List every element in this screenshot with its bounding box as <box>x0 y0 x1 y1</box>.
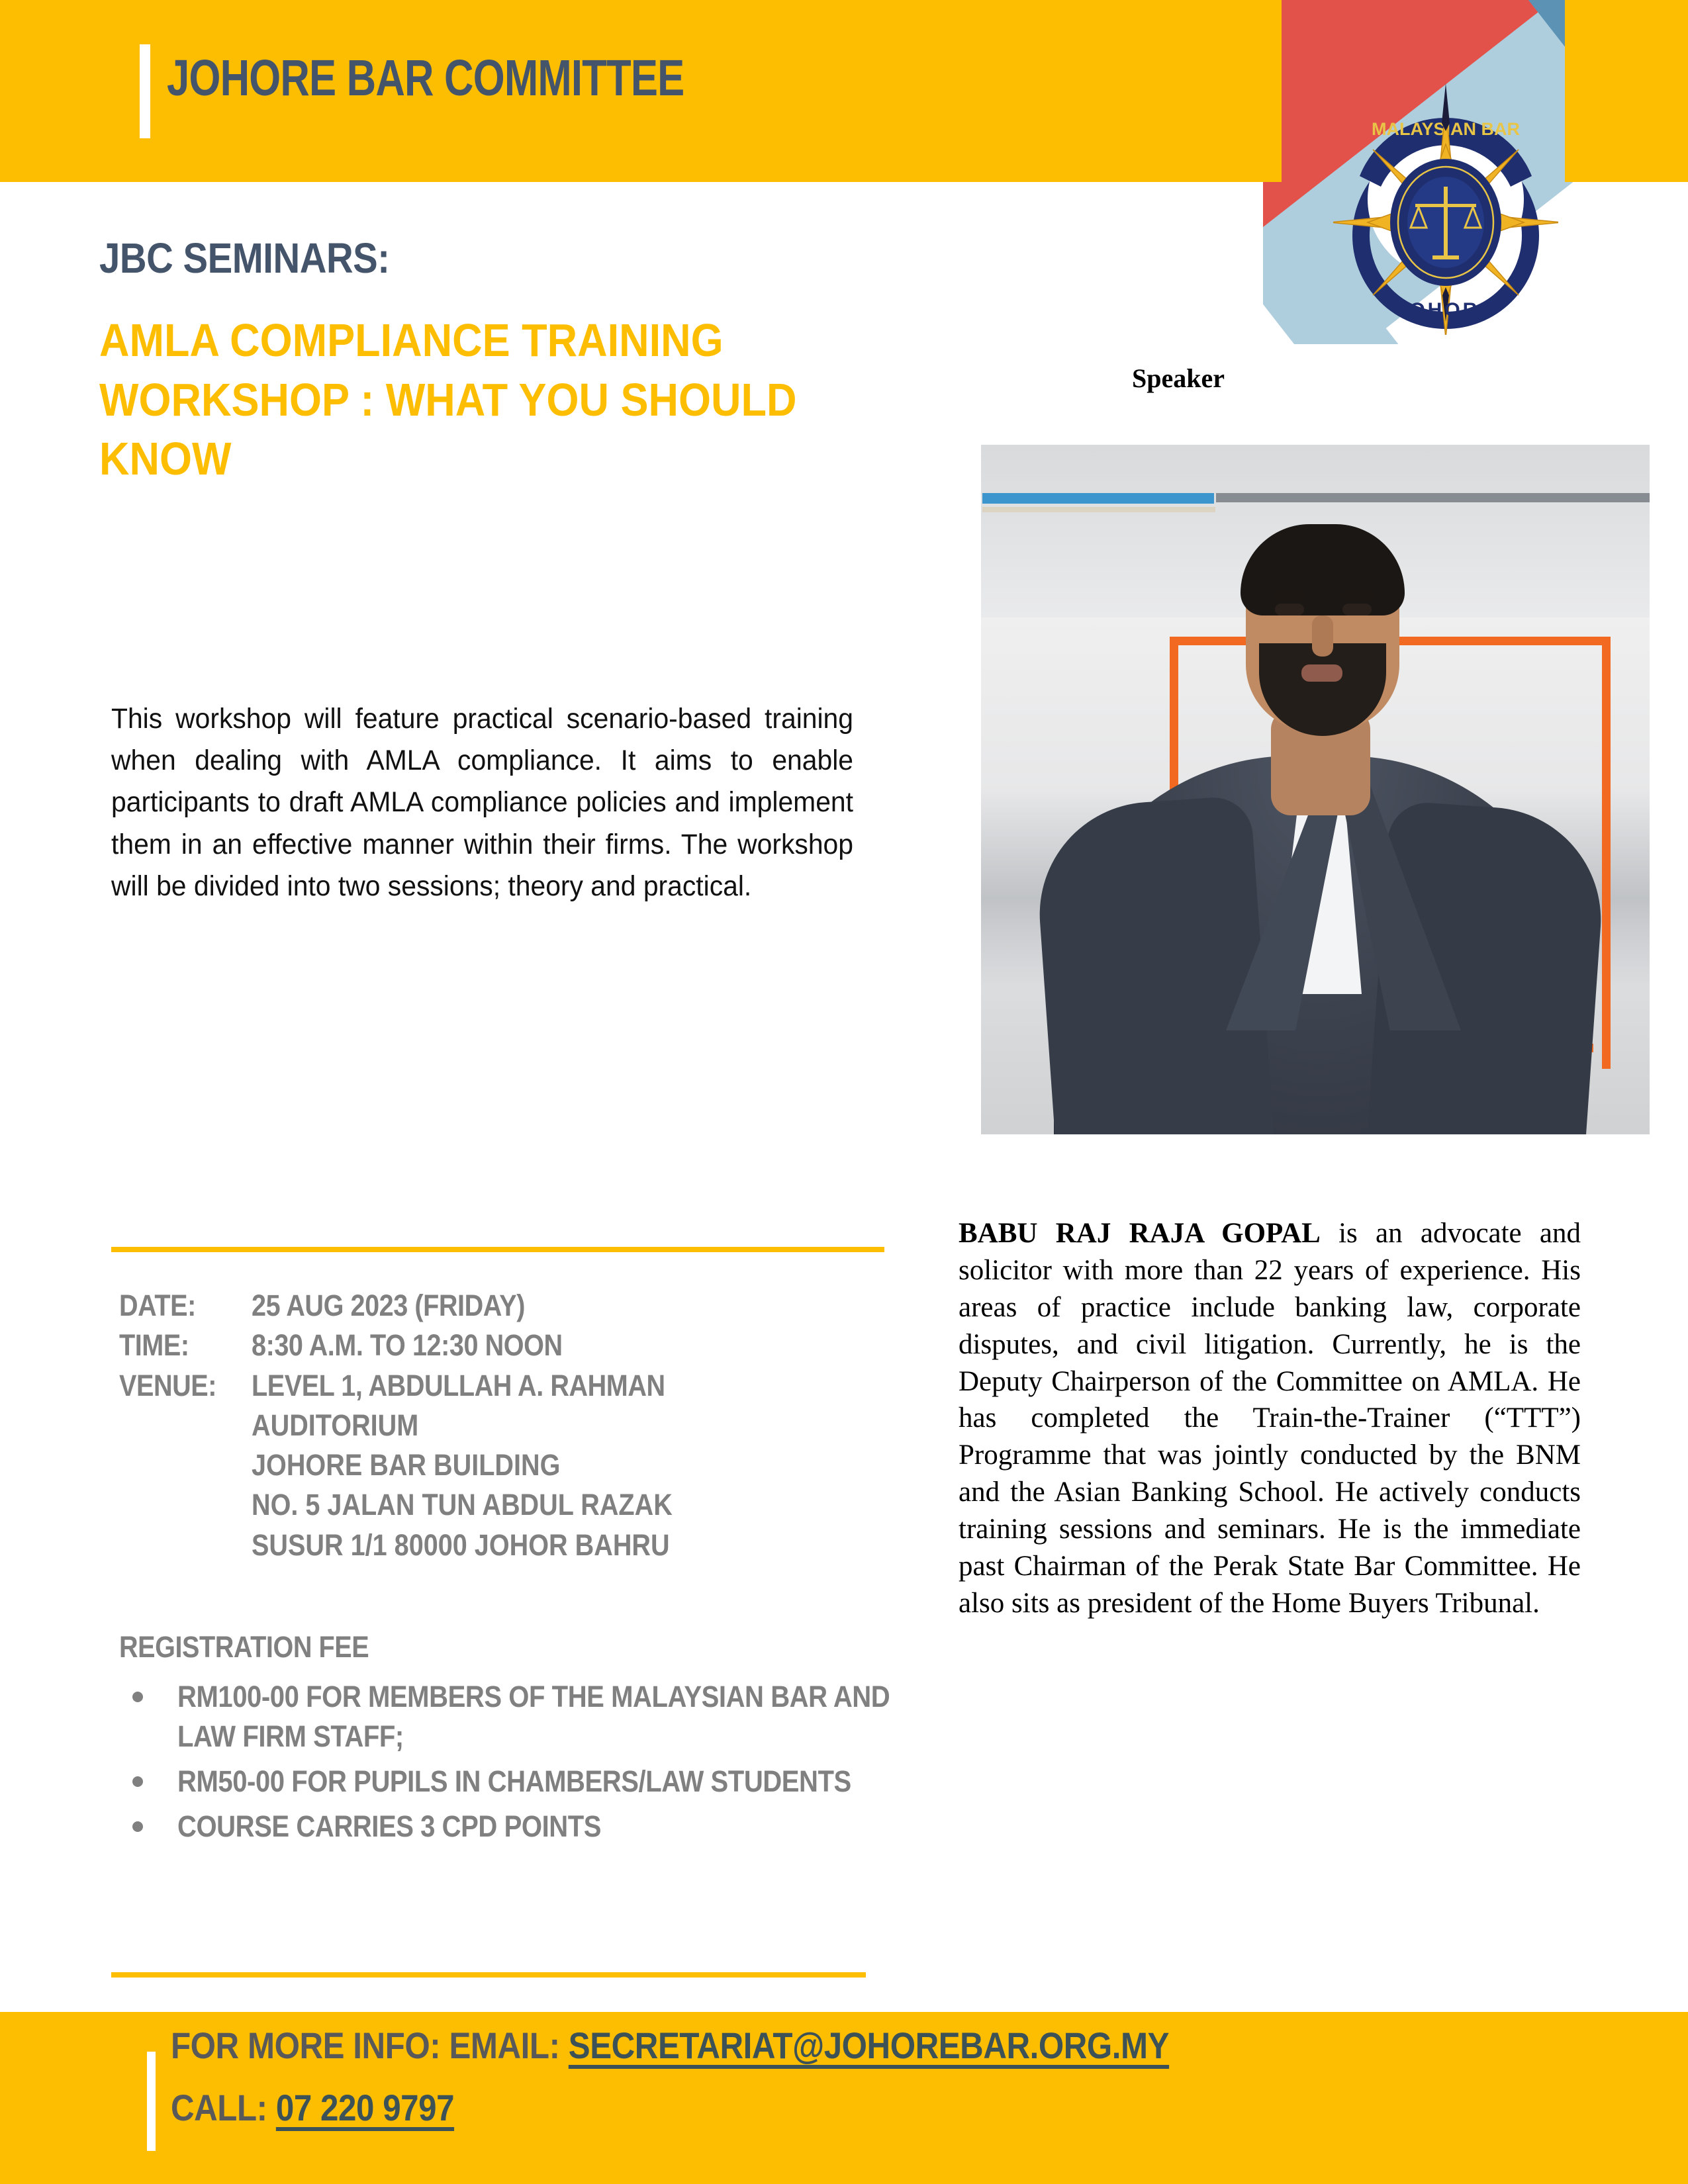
fee-item-text: RM50-00 FOR PUPILS IN CHAMBERS/LAW STUDE… <box>177 1762 914 1801</box>
logo-panel: MALAYSIAN BAR <box>1263 0 1628 344</box>
footer-email-link[interactable]: SECRETARIAT@JOHOREBAR.ORG.MY <box>569 2025 1169 2066</box>
seminar-eyebrow: JBC SEMINARS: <box>99 237 810 279</box>
venue-line-3: JOHORE BAR BUILDING <box>252 1445 834 1485</box>
footer-call-prefix: CALL: <box>171 2087 276 2128</box>
venue-line-4: NO. 5 JALAN TUN ABDUL RAZAK <box>252 1485 834 1525</box>
venue-line-5: SUSUR 1/1 80000 JOHOR BAHRU <box>252 1525 834 1565</box>
time-value: 8:30 A.M. TO 12:30 NOON <box>252 1326 563 1365</box>
bullet-icon <box>132 1776 143 1787</box>
photo-blue-stripe <box>982 493 1214 504</box>
detail-row-date: DATE: 25 AUG 2023 (FRIDAY) <box>119 1286 914 1326</box>
details-divider-top <box>111 1247 884 1252</box>
title-block: JBC SEMINARS: AMLA COMPLIANCE TRAINING W… <box>99 237 907 489</box>
logo-yellow-right-strip <box>1565 0 1628 182</box>
registration-fee-block: REGISTRATION FEE RM100-00 FOR MEMBERS OF… <box>119 1629 914 1851</box>
speaker-brow-left <box>1272 592 1307 600</box>
venue-value: LEVEL 1, ABDULLAH A. RAHMAN <box>252 1366 665 1406</box>
footer-call-line: CALL: 07 220 9797 <box>171 2086 454 2129</box>
list-item: COURSE CARRIES 3 CPD POINTS <box>119 1807 914 1846</box>
page-title: JOHORE BAR COMMITTEE <box>167 53 684 104</box>
footer-info-line: FOR MORE INFO: EMAIL: SECRETARIAT@JOHORE… <box>171 2024 1169 2067</box>
speaker-eye-left <box>1275 604 1304 615</box>
speaker-shoulder-left <box>1032 795 1274 1134</box>
svg-text:JOHORE: JOHORE <box>1396 299 1496 321</box>
detail-row-venue: VENUE: LEVEL 1, ABDULLAH A. RAHMAN <box>119 1366 914 1406</box>
fee-item-text: RM100-00 FOR MEMBERS OF THE MALAYSIAN BA… <box>177 1677 914 1756</box>
bullet-icon <box>132 1821 143 1832</box>
footer-phone-link[interactable]: 07 220 9797 <box>276 2087 454 2128</box>
workshop-description: This workshop will feature practical sce… <box>111 698 853 907</box>
registration-fee-heading: REGISTRATION FEE <box>119 1629 818 1665</box>
speaker-eye-right <box>1342 604 1372 615</box>
detail-row-time: TIME: 8:30 A.M. TO 12:30 NOON <box>119 1326 914 1365</box>
date-value: 25 AUG 2023 (FRIDAY) <box>252 1286 525 1326</box>
date-label: DATE: <box>119 1286 236 1326</box>
speaker-photo <box>981 445 1650 1134</box>
header-accent-bar <box>140 44 150 138</box>
list-item: RM100-00 FOR MEMBERS OF THE MALAYSIAN BA… <box>119 1677 914 1756</box>
bullet-icon <box>132 1692 143 1702</box>
registration-fee-list: RM100-00 FOR MEMBERS OF THE MALAYSIAN BA… <box>119 1677 914 1846</box>
logo-yellow-left-strip <box>1263 0 1282 182</box>
speaker-label: Speaker <box>1132 363 1225 394</box>
photo-gray-stripe <box>1216 493 1650 502</box>
event-details-block: DATE: 25 AUG 2023 (FRIDAY) TIME: 8:30 A.… <box>119 1286 914 1565</box>
speaker-bio-text: is an advocate and solicitor with more t… <box>959 1218 1581 1619</box>
list-item: RM50-00 FOR PUPILS IN CHAMBERS/LAW STUDE… <box>119 1762 914 1801</box>
footer-accent-bar <box>147 2052 156 2151</box>
speaker-bio: BABU RAJ RAJA GOPAL is an advocate and s… <box>959 1215 1581 1622</box>
details-divider-bottom <box>111 1972 866 1978</box>
footer-info-prefix: FOR MORE INFO: EMAIL: <box>171 2025 569 2066</box>
venue-line-2: AUDITORIUM <box>252 1406 834 1445</box>
malaysian-bar-johore-emblem-icon: MALAYSIAN BAR <box>1333 57 1558 335</box>
photo-faint-stripe <box>982 507 1215 512</box>
speaker-name: BABU RAJ RAJA GOPAL <box>959 1218 1321 1249</box>
speaker-brow-right <box>1340 592 1374 600</box>
speaker-nose <box>1312 615 1333 657</box>
seminar-main-title: AMLA COMPLIANCE TRAINING WORKSHOP : WHAT… <box>99 311 898 489</box>
venue-label: VENUE: <box>119 1366 236 1406</box>
fee-item-text: COURSE CARRIES 3 CPD POINTS <box>177 1807 914 1846</box>
time-label: TIME: <box>119 1326 236 1365</box>
speaker-mouth <box>1301 664 1342 682</box>
